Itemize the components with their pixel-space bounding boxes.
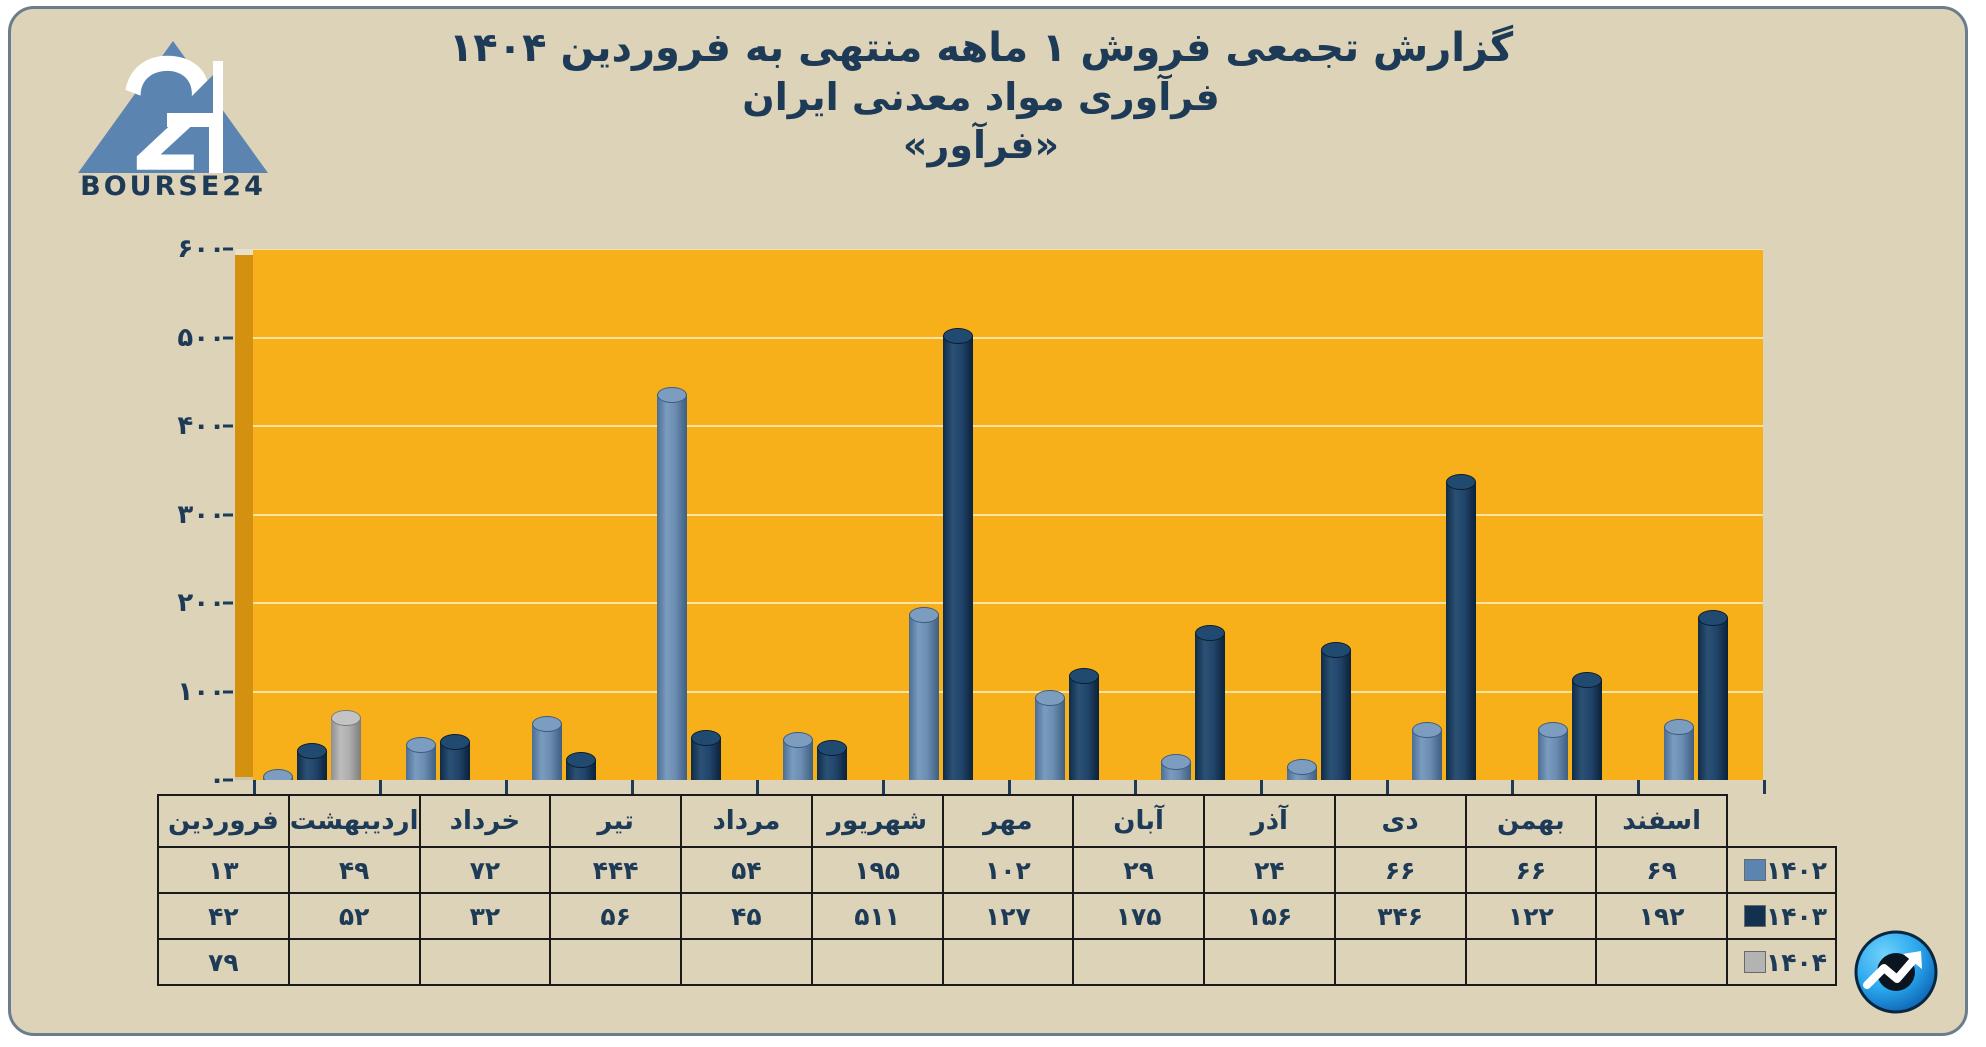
bar-cap bbox=[532, 716, 562, 732]
page-title: گزارش تجمعی فروش ۱ ماهه منتهی به فروردین… bbox=[311, 23, 1651, 169]
title-line-3: «فرآور» bbox=[311, 121, 1651, 169]
bar-اردیبهشت-۱۴۰۳ bbox=[440, 734, 470, 780]
table-row: ۱۴۰۲۶۹۶۶۶۶۲۴۲۹۱۰۲۱۹۵۵۴۴۴۴۷۲۴۹۱۳ bbox=[158, 847, 1836, 893]
cell-۱۴۰۴-مهر bbox=[943, 939, 1074, 985]
cell-۱۴۰۲-خرداد: ۷۲ bbox=[420, 847, 551, 893]
month-header-فروردین: فروردین bbox=[158, 795, 289, 847]
cell-۱۴۰۲-تیر: ۴۴۴ bbox=[550, 847, 681, 893]
trending-up-arrow-icon bbox=[1853, 929, 1939, 1015]
y-axis-tick-mark bbox=[223, 779, 233, 782]
cell-۱۴۰۳-خرداد: ۳۲ bbox=[420, 893, 551, 939]
month-header-دی: دی bbox=[1335, 795, 1466, 847]
gridline bbox=[253, 249, 1763, 250]
bar-body bbox=[943, 336, 973, 780]
table-row: ۱۴۰۳۱۹۲۱۲۲۳۴۶۱۵۶۱۷۵۱۲۷۵۱۱۴۵۵۶۳۲۵۲۴۲ bbox=[158, 893, 1836, 939]
bourse24-triangle-icon bbox=[63, 31, 283, 181]
bar-اردیبهشت-۱۴۰۲ bbox=[406, 737, 436, 780]
cell-۱۴۰۲-بهمن: ۶۶ bbox=[1466, 847, 1597, 893]
cell-۱۴۰۳-اردیبهشت: ۵۲ bbox=[289, 893, 420, 939]
brand-logo: BOURSE24 bbox=[63, 31, 283, 206]
gridline bbox=[253, 337, 1763, 339]
cell-۱۴۰۳-دی: ۳۴۶ bbox=[1335, 893, 1466, 939]
y-axis-tick-mark bbox=[223, 248, 233, 251]
month-header-بهمن: بهمن bbox=[1466, 795, 1597, 847]
bar-body bbox=[909, 615, 939, 780]
x-axis-tick-mark bbox=[1134, 780, 1137, 794]
bar-cap bbox=[263, 769, 293, 781]
report-card: BOURSE24 گزارش تجمعی فروش ۱ ماهه منتهی ب… bbox=[8, 6, 1968, 1036]
cell-۱۴۰۲-مهر: ۱۰۲ bbox=[943, 847, 1074, 893]
cell-۱۴۰۴-آبان bbox=[1073, 939, 1204, 985]
bar-دی-۱۴۰۳ bbox=[1446, 474, 1476, 780]
cell-۱۴۰۳-مهر: ۱۲۷ bbox=[943, 893, 1074, 939]
legend-label: ۱۴۰۳ bbox=[1766, 902, 1827, 931]
bar-تیر-۱۴۰۳ bbox=[691, 730, 721, 780]
x-axis-tick-mark bbox=[1511, 780, 1514, 794]
bar-خرداد-۱۴۰۳ bbox=[566, 752, 596, 780]
x-axis-tick-mark bbox=[1637, 780, 1640, 794]
bar-body bbox=[1446, 482, 1476, 780]
bar-شهریور-۱۴۰۳ bbox=[943, 328, 973, 780]
cell-۱۴۰۲-آذر: ۲۴ bbox=[1204, 847, 1335, 893]
cell-۱۴۰۲-مرداد: ۵۴ bbox=[681, 847, 812, 893]
legend-label: ۱۴۰۴ bbox=[1766, 948, 1827, 977]
x-axis-tick-mark bbox=[1008, 780, 1011, 794]
month-header-تیر: تیر bbox=[550, 795, 681, 847]
cell-۱۴۰۳-فروردین: ۴۲ bbox=[158, 893, 289, 939]
cell-۱۴۰۲-آبان: ۲۹ bbox=[1073, 847, 1204, 893]
bar-شهریور-۱۴۰۲ bbox=[909, 607, 939, 780]
legend-swatch-icon bbox=[1744, 859, 1766, 881]
bar-body bbox=[1035, 698, 1065, 780]
month-header-اردیبهشت: اردیبهشت bbox=[289, 795, 420, 847]
legend-swatch-icon bbox=[1744, 905, 1766, 927]
bar-cap bbox=[1321, 642, 1351, 658]
cell-۱۴۰۲-دی: ۶۶ bbox=[1335, 847, 1466, 893]
bar-cap bbox=[406, 737, 436, 753]
cell-۱۴۰۴-اردیبهشت bbox=[289, 939, 420, 985]
bar-دی-۱۴۰۲ bbox=[1412, 722, 1442, 780]
cell-۱۴۰۳-اسفند: ۱۹۲ bbox=[1596, 893, 1727, 939]
bar-body bbox=[1069, 676, 1099, 780]
table-row-months: اسفندبهمندیآذرآبانمهرشهریورمردادتیرخرداد… bbox=[158, 795, 1836, 847]
bar-body bbox=[1572, 680, 1602, 780]
bar-cap bbox=[1195, 625, 1225, 641]
cell-۱۴۰۳-بهمن: ۱۲۲ bbox=[1466, 893, 1597, 939]
x-axis-tick-mark bbox=[1260, 780, 1263, 794]
chart-3d-floor bbox=[235, 780, 1763, 794]
bar-بهمن-۱۴۰۳ bbox=[1572, 672, 1602, 780]
bar-body bbox=[532, 724, 562, 780]
month-header-خرداد: خرداد bbox=[420, 795, 551, 847]
bar-body bbox=[1698, 618, 1728, 780]
title-line-1: گزارش تجمعی فروش ۱ ماهه منتهی به فروردین… bbox=[311, 23, 1651, 73]
x-axis-tick-mark bbox=[631, 780, 634, 794]
bar-تیر-۱۴۰۲ bbox=[657, 387, 687, 780]
bar-فروردین-۱۴۰۲ bbox=[263, 769, 293, 781]
gridline bbox=[253, 425, 1763, 427]
bar-body bbox=[657, 395, 687, 780]
bar-اسفند-۱۴۰۳ bbox=[1698, 610, 1728, 780]
month-header-آذر: آذر bbox=[1204, 795, 1335, 847]
month-header-مرداد: مرداد bbox=[681, 795, 812, 847]
bar-cap bbox=[297, 743, 327, 759]
cell-۱۴۰۴-مرداد bbox=[681, 939, 812, 985]
legend-item-۱۴۰۲[interactable]: ۱۴۰۲ bbox=[1727, 847, 1836, 893]
month-header-اسفند: اسفند bbox=[1596, 795, 1727, 847]
y-axis-tick-label: ۴۰۰ bbox=[105, 411, 225, 441]
data-table: اسفندبهمندیآذرآبانمهرشهریورمردادتیرخرداد… bbox=[157, 794, 1837, 986]
table-row: ۱۴۰۴۷۹ bbox=[158, 939, 1836, 985]
y-axis-tick-label: ۰ bbox=[105, 765, 225, 795]
cell-۱۴۰۴-بهمن bbox=[1466, 939, 1597, 985]
y-axis-tick-label: ۳۰۰ bbox=[105, 500, 225, 530]
bar-مهر-۱۴۰۲ bbox=[1035, 690, 1065, 780]
x-axis-tick-mark bbox=[1386, 780, 1389, 794]
cell-۱۴۰۳-تیر: ۵۶ bbox=[550, 893, 681, 939]
y-axis-tick-label: ۲۰۰ bbox=[105, 588, 225, 618]
x-axis-tick-mark bbox=[1763, 780, 1766, 794]
month-header-آبان: آبان bbox=[1073, 795, 1204, 847]
bar-آذر-۱۴۰۲ bbox=[1287, 759, 1317, 780]
plot-area bbox=[253, 249, 1763, 780]
bar-body bbox=[1321, 650, 1351, 780]
y-axis-tick-label: ۱۰۰ bbox=[105, 677, 225, 707]
x-axis-tick-mark bbox=[505, 780, 508, 794]
bar-آذر-۱۴۰۳ bbox=[1321, 642, 1351, 780]
cell-۱۴۰۳-آذر: ۱۵۶ bbox=[1204, 893, 1335, 939]
cell-۱۴۰۴-تیر bbox=[550, 939, 681, 985]
cell-۱۴۰۴-دی bbox=[1335, 939, 1466, 985]
bar-cap bbox=[1287, 759, 1317, 775]
x-axis-tick-mark bbox=[253, 780, 256, 794]
table-corner-cell bbox=[1727, 795, 1836, 847]
y-axis-tick-label: ۶۰۰ bbox=[105, 234, 225, 264]
chart-3d-sidewall bbox=[235, 255, 253, 780]
bar-cap bbox=[1664, 719, 1694, 735]
bar-cap bbox=[566, 752, 596, 768]
bar-body bbox=[331, 718, 361, 780]
bar-cap bbox=[943, 328, 973, 344]
y-axis-tick-mark bbox=[223, 602, 233, 605]
y-axis-tick-mark bbox=[223, 336, 233, 339]
legend-item-۱۴۰۴[interactable]: ۱۴۰۴ bbox=[1727, 939, 1836, 985]
cell-۱۴۰۳-شهریور: ۵۱۱ bbox=[812, 893, 943, 939]
bar-خرداد-۱۴۰۲ bbox=[532, 716, 562, 780]
x-axis-tick-mark bbox=[882, 780, 885, 794]
bar-مرداد-۱۴۰۳ bbox=[817, 740, 847, 780]
x-axis-tick-mark bbox=[756, 780, 759, 794]
bar-cap bbox=[1412, 722, 1442, 738]
bar-body bbox=[1195, 633, 1225, 780]
cell-۱۴۰۲-فروردین: ۱۳ bbox=[158, 847, 289, 893]
bar-cap bbox=[1035, 690, 1065, 706]
y-axis-tick-mark bbox=[223, 513, 233, 516]
legend-item-۱۴۰۳[interactable]: ۱۴۰۳ bbox=[1727, 893, 1836, 939]
cell-۱۴۰۴-آذر bbox=[1204, 939, 1335, 985]
bar-فروردین-۱۴۰۳ bbox=[297, 743, 327, 780]
bar-آبان-۱۴۰۲ bbox=[1161, 754, 1191, 780]
brand-wordmark: BOURSE24 bbox=[63, 171, 283, 202]
bar-مهر-۱۴۰۳ bbox=[1069, 668, 1099, 780]
cell-۱۴۰۳-آبان: ۱۷۵ bbox=[1073, 893, 1204, 939]
bar-آبان-۱۴۰۳ bbox=[1195, 625, 1225, 780]
cell-۱۴۰۴-اسفند bbox=[1596, 939, 1727, 985]
cell-۱۴۰۳-مرداد: ۴۵ bbox=[681, 893, 812, 939]
bar-اسفند-۱۴۰۲ bbox=[1664, 719, 1694, 780]
bar-cap bbox=[1446, 474, 1476, 490]
bar-cap bbox=[331, 710, 361, 726]
y-axis-tick-mark bbox=[223, 425, 233, 428]
bar-cap bbox=[1069, 668, 1099, 684]
gridline bbox=[253, 691, 1763, 693]
gridline bbox=[253, 514, 1763, 516]
y-axis-tick-label: ۵۰۰ bbox=[105, 323, 225, 353]
month-header-شهریور: شهریور bbox=[812, 795, 943, 847]
bar-cap bbox=[1538, 722, 1568, 738]
bar-فروردین-۱۴۰۴ bbox=[331, 710, 361, 780]
cell-۱۴۰۴-فروردین: ۷۹ bbox=[158, 939, 289, 985]
title-line-2: فرآوری مواد معدنی ایران bbox=[311, 73, 1651, 121]
bar-بهمن-۱۴۰۲ bbox=[1538, 722, 1568, 780]
legend-label: ۱۴۰۲ bbox=[1766, 856, 1827, 885]
cell-۱۴۰۲-اردیبهشت: ۴۹ bbox=[289, 847, 420, 893]
cell-۱۴۰۴-خرداد bbox=[420, 939, 551, 985]
cell-۱۴۰۴-شهریور bbox=[812, 939, 943, 985]
bar-مرداد-۱۴۰۲ bbox=[783, 732, 813, 780]
legend-swatch-icon bbox=[1744, 951, 1766, 973]
y-axis-tick-mark bbox=[223, 690, 233, 693]
bar-chart: میلیارد تومان ۰۱۰۰۲۰۰۳۰۰۴۰۰۵۰۰۶۰۰ bbox=[157, 249, 1837, 794]
x-axis-tick-mark bbox=[379, 780, 382, 794]
month-header-مهر: مهر bbox=[943, 795, 1074, 847]
cell-۱۴۰۲-شهریور: ۱۹۵ bbox=[812, 847, 943, 893]
gridline bbox=[253, 602, 1763, 604]
bar-cap bbox=[440, 734, 470, 750]
cell-۱۴۰۲-اسفند: ۶۹ bbox=[1596, 847, 1727, 893]
